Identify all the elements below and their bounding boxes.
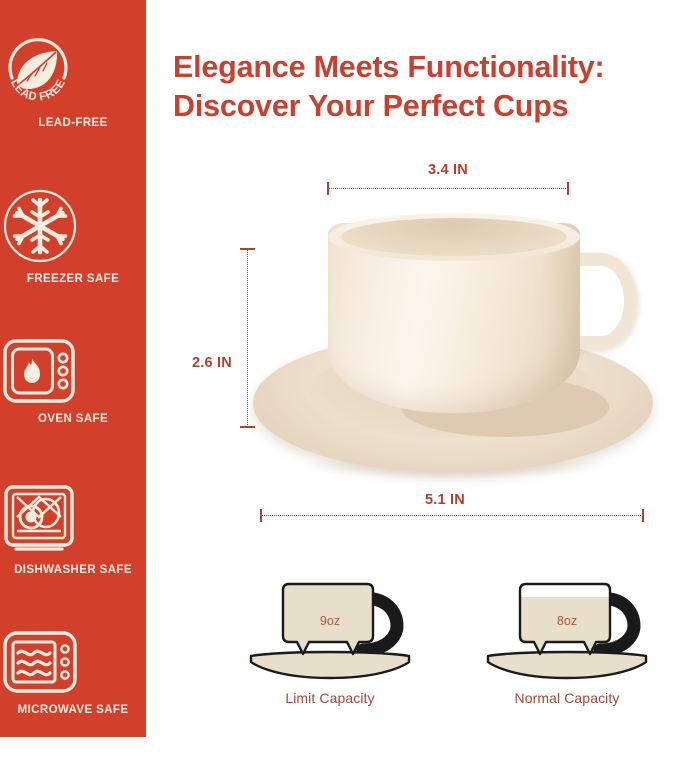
capacity-amount-normal: 8oz: [472, 614, 662, 628]
dimension-cap-saucer-left: [260, 509, 262, 522]
dimension-line-height: [247, 249, 248, 427]
snowflake-icon: [0, 186, 146, 266]
dimension-cap-saucer-right: [642, 509, 644, 522]
capacity-caption-normal: Normal Capacity: [472, 690, 662, 706]
dimension-cap-height-bottom: [240, 426, 255, 428]
product-infographic: LEAD FREE LEAD-FREE: [0, 0, 679, 763]
dimension-line-top: [328, 188, 568, 189]
dimension-label-top-width: 3.4 IN: [428, 162, 468, 178]
leaf-lead-free-icon: LEAD FREE: [0, 34, 146, 110]
capacity-cup-normal-icon: [472, 570, 662, 692]
dimension-line-saucer: [261, 515, 643, 516]
dimension-cap-height-top: [240, 248, 255, 250]
capacity-amount-limit: 9oz: [235, 614, 425, 628]
feature-label-dishwasher-safe: DISHWASHER SAFE: [0, 564, 146, 576]
oven-flame-icon: [0, 336, 146, 406]
feature-microwave-safe: MICROWAVE SAFE: [0, 629, 146, 716]
feature-label-oven-safe: OVEN SAFE: [0, 413, 146, 425]
feature-dishwasher-safe: DISHWASHER SAFE: [0, 483, 146, 576]
feature-label-freezer-safe: FREEZER SAFE: [0, 273, 146, 285]
dishwasher-icon: [0, 483, 146, 557]
capacity-figure-limit: 9oz Limit Capacity: [235, 570, 425, 720]
dimension-label-saucer-width: 5.1 IN: [425, 492, 465, 508]
capacity-caption-limit: Limit Capacity: [235, 690, 425, 706]
headline-line-2: Discover Your Perfect Cups: [173, 87, 673, 126]
cup-interior: [341, 218, 567, 256]
dimension-cap-top-right: [567, 182, 569, 195]
product-photo: [243, 205, 663, 490]
feature-oven-safe: OVEN SAFE: [0, 336, 146, 425]
capacity-figure-normal: 8oz Normal Capacity: [472, 570, 662, 720]
feature-lead-free: LEAD FREE LEAD-FREE: [0, 34, 146, 129]
feature-label-microwave-safe: MICROWAVE SAFE: [0, 704, 146, 716]
page-title: Elegance Meets Functionality: Discover Y…: [173, 48, 673, 126]
feature-label-lead-free: LEAD-FREE: [0, 117, 146, 129]
headline-line-1: Elegance Meets Functionality:: [173, 48, 673, 87]
features-sidebar: LEAD FREE LEAD-FREE: [0, 0, 146, 737]
dimension-cap-top-left: [327, 182, 329, 195]
dimension-label-height: 2.6 IN: [192, 355, 232, 371]
microwave-icon: [0, 629, 146, 697]
feature-freezer-safe: FREEZER SAFE: [0, 186, 146, 285]
capacity-cup-limit-icon: [235, 570, 425, 692]
